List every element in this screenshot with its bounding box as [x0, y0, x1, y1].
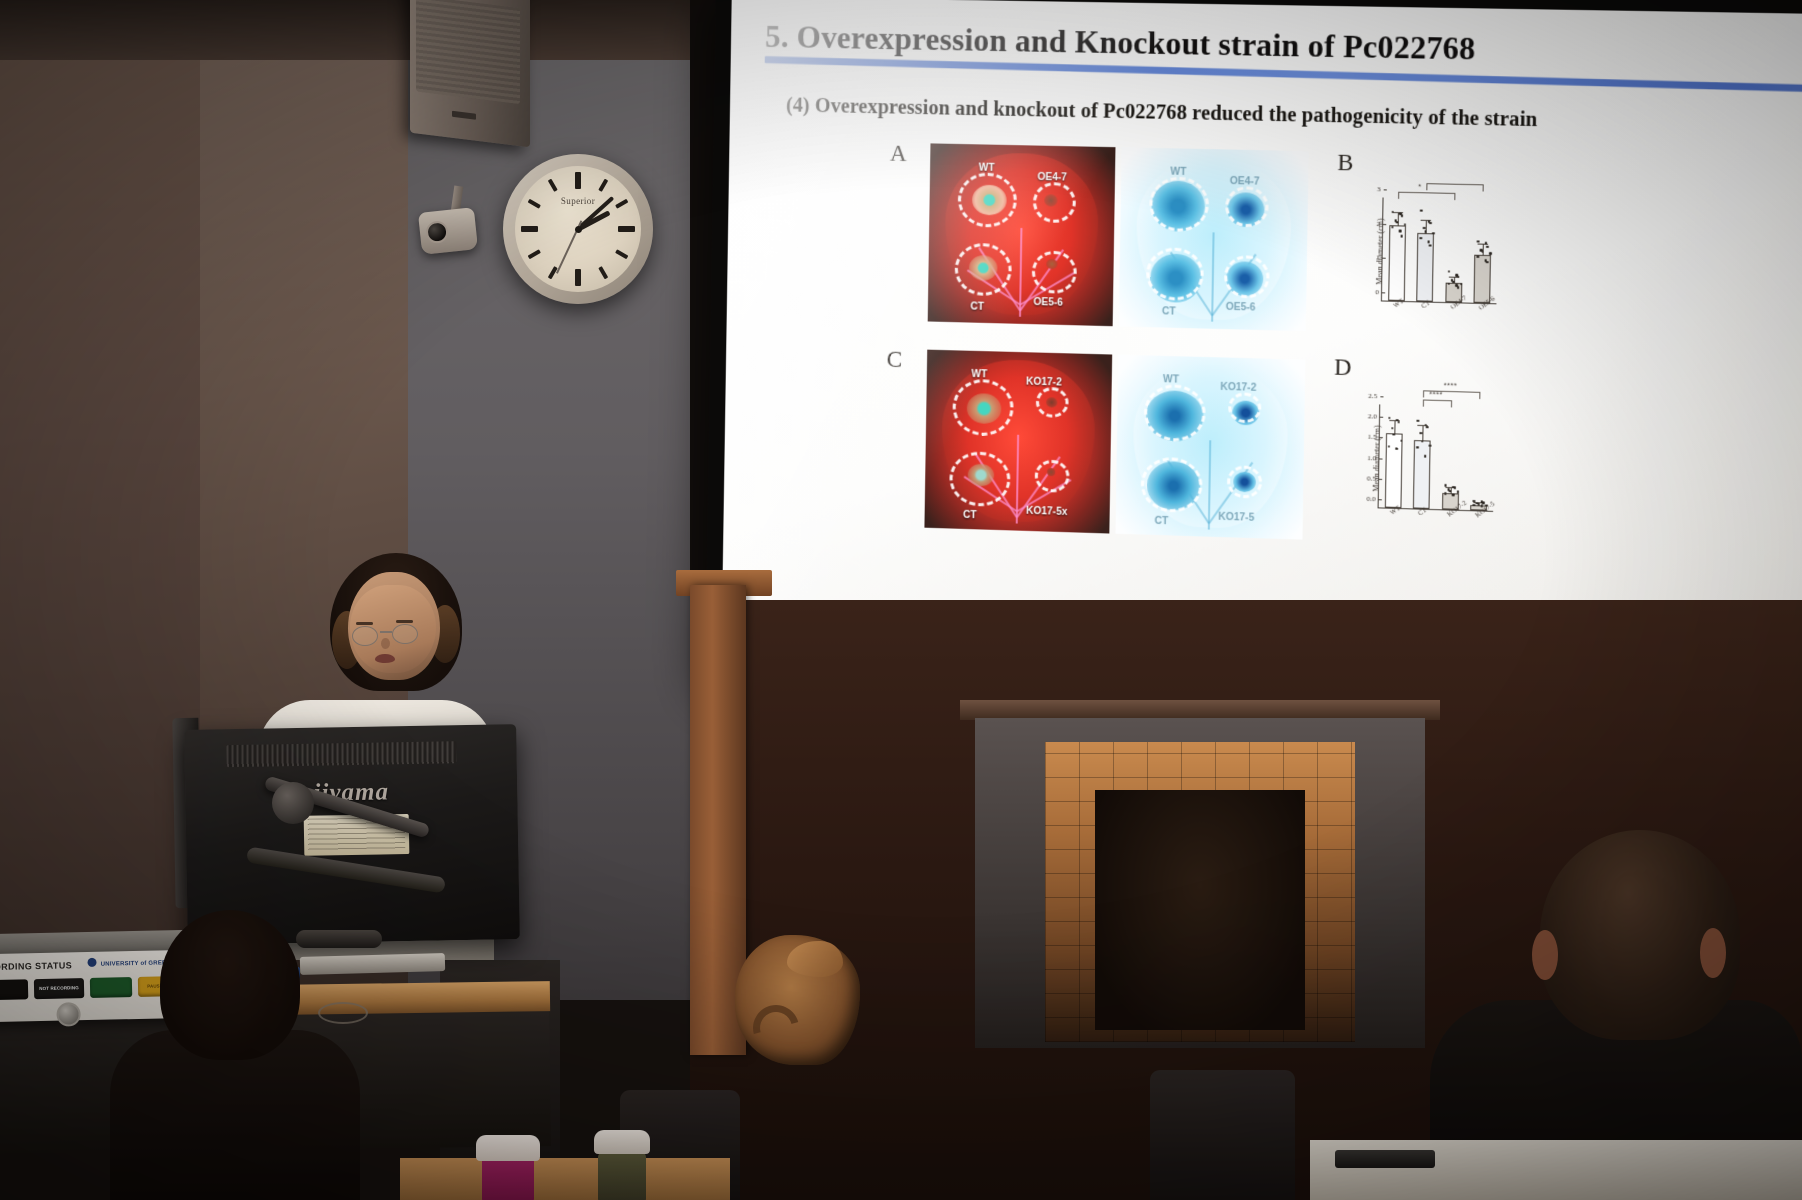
wall-clock: Superior — [503, 154, 653, 304]
speaker-grille-icon — [416, 0, 520, 104]
university-crest-icon — [88, 958, 97, 967]
bar-wt — [1385, 433, 1403, 508]
leaf-label: WT — [971, 369, 987, 381]
data-point — [1426, 426, 1429, 429]
panel-letter-d: D — [1334, 354, 1352, 381]
data-point — [1444, 484, 1447, 487]
data-point — [1427, 241, 1430, 243]
water-bottle-green-cap[interactable] — [594, 1130, 650, 1154]
y-axis-tick-label: 1.0 — [1367, 454, 1379, 463]
ceiling-speaker — [410, 0, 530, 147]
figure-area: A — [882, 135, 1802, 675]
monitor-arm-pivot[interactable] — [272, 782, 314, 824]
data-point — [1429, 244, 1432, 246]
monitor-arm-base — [296, 930, 382, 948]
presenter-glasses-bridge — [380, 631, 392, 633]
green-button[interactable] — [90, 977, 132, 998]
error-bar — [1483, 244, 1484, 254]
clock-face: Superior — [515, 166, 641, 292]
fireplace-hearth-shadow — [1095, 790, 1305, 1030]
presentation-slide: 5. Overexpression and Knockout strain of… — [722, 0, 1802, 686]
leaf-label: WT — [979, 163, 995, 174]
leaf-label: CT — [1154, 516, 1168, 528]
data-point — [1486, 261, 1489, 264]
audience-right-ear-left — [1532, 930, 1558, 980]
data-point — [1420, 210, 1423, 212]
data-point — [1457, 286, 1460, 289]
leaf-label: WT — [1163, 374, 1179, 386]
presenter-nose — [381, 638, 390, 649]
data-point — [1424, 455, 1427, 458]
significance-bracket — [1423, 390, 1480, 399]
lecture-theatre-scene: Superior 5. Overexpression and Knockout … — [0, 0, 1802, 1200]
data-point — [1460, 283, 1463, 286]
carved-wood-ornament — [735, 935, 860, 1065]
significance-bracket — [1427, 183, 1484, 191]
data-point — [1396, 221, 1399, 223]
monitor-vent-grille — [226, 741, 456, 767]
y-axis-tick-label: 1 — [1376, 254, 1383, 262]
leaf-label: CT — [970, 301, 984, 312]
error-bar — [1394, 421, 1395, 433]
data-point — [1477, 256, 1480, 259]
figure-row-top: A — [887, 135, 1802, 355]
clock-tick — [528, 249, 541, 259]
bar-wt — [1388, 225, 1406, 301]
y-axis-tick-label: 0.0 — [1366, 495, 1378, 504]
panel-d-plot-area: 0.00.51.01.52.02.5WTCTKO17-2KO17-5******… — [1378, 404, 1495, 511]
panel-c-red-leaf-photo: WT KO17-2 CT KO17-5x — [924, 350, 1112, 534]
panel-b-bar-chart: Mean diameter (cm) 0123WTCTOE4-7OE5-6* — [1349, 174, 1502, 331]
data-point — [1399, 230, 1402, 232]
audience-table-right — [1310, 1140, 1802, 1200]
presenter-glasses-left — [352, 626, 378, 646]
clock-tick — [548, 179, 558, 192]
panel-a-blue-leaf-photo: WT OE4-7 CT OE5-6 — [1119, 147, 1309, 331]
data-point — [1429, 222, 1432, 224]
panel-a-red-leaf-photo: WT OE4-7 CT OE5-6 — [928, 143, 1116, 326]
carved-creature-head — [787, 941, 843, 977]
leaf-label: CT — [963, 510, 977, 522]
recording-status-title: RECORDING STATUS — [0, 960, 72, 972]
data-point — [1397, 421, 1400, 424]
screen-surface: 5. Overexpression and Knockout strain of… — [722, 0, 1802, 686]
data-point — [1424, 230, 1427, 232]
leaf-label: OE4-7 — [1230, 176, 1260, 188]
leaf-label: CT — [1162, 306, 1176, 317]
panel-d-bar-chart: Mean diameter (cm) 0.00.51.01.52.02.5WTC… — [1346, 381, 1499, 538]
slide-subtitle: (4) Overexpression and knockout of Pc022… — [786, 94, 1802, 137]
data-point — [1404, 223, 1407, 225]
panel-letter-a: A — [890, 141, 907, 167]
keyboard[interactable] — [300, 953, 445, 975]
panel-b-plot-area: 0123WTCTOE4-7OE5-6* — [1381, 197, 1498, 304]
leaf-label: WT — [1170, 167, 1186, 178]
presenter-brow-left — [356, 622, 373, 625]
clock-center-pin — [575, 226, 582, 233]
data-point — [1477, 240, 1480, 243]
leaf-label: OE4-7 — [1037, 172, 1067, 184]
leaf-label: OE5-6 — [1033, 297, 1063, 309]
leaf-label: OE5-6 — [1226, 302, 1256, 314]
significance-label: **** — [1444, 383, 1458, 391]
data-point — [1423, 227, 1426, 229]
y-axis-tick-label: 2 — [1376, 219, 1383, 227]
bar-ct — [1416, 233, 1434, 302]
significance-bracket — [1398, 192, 1455, 200]
data-point — [1457, 491, 1460, 494]
clock-tick — [575, 269, 581, 286]
chair-right — [1150, 1070, 1295, 1200]
error-bar — [1423, 426, 1424, 440]
leaf-label: KO17-5x — [1026, 506, 1067, 518]
audience-left-head — [160, 910, 300, 1060]
ceiling-shadow — [0, 0, 760, 60]
clock-tick — [618, 226, 635, 232]
data-point — [1449, 490, 1452, 493]
panel-c-blue-leaf-photo: WT KO17-2 CT KO17-5 — [1115, 355, 1305, 540]
data-point — [1448, 270, 1451, 273]
presenter-mouth — [375, 654, 395, 663]
significance-label: * — [1418, 184, 1421, 191]
data-point — [1489, 252, 1492, 255]
data-point — [1485, 242, 1488, 245]
audience-left-glasses — [318, 1002, 368, 1024]
clock-tick — [575, 172, 581, 189]
y-axis-tick-label: 0.5 — [1367, 474, 1379, 483]
data-point — [1454, 487, 1457, 490]
presenter-glasses-right — [392, 624, 418, 644]
y-axis-tick-label: 2.0 — [1368, 412, 1380, 420]
data-point — [1417, 420, 1420, 423]
not-recording-button[interactable]: NOT RECORDING — [34, 978, 84, 999]
data-point — [1473, 504, 1476, 507]
leaf-label: KO17-2 — [1220, 382, 1256, 394]
y-axis-tick-label: 0 — [1375, 288, 1382, 296]
y-axis-tick-label: 1.5 — [1367, 433, 1379, 442]
bar-ct — [1413, 440, 1431, 509]
clock-tick — [521, 226, 538, 232]
data-point — [1392, 433, 1395, 436]
y-axis-tick-label: 3 — [1377, 185, 1384, 193]
camera-lens-icon — [425, 220, 449, 244]
presenter-brow-right — [396, 620, 413, 623]
data-point — [1401, 214, 1404, 216]
panel-letter-b: B — [1337, 150, 1353, 177]
speaker-badge — [452, 111, 476, 120]
error-bar — [1397, 213, 1398, 225]
leaf-label: KO17-2 — [1026, 376, 1062, 388]
clock-tick — [615, 249, 628, 259]
status-display — [0, 979, 28, 1000]
audience-right-ear-right — [1700, 928, 1726, 978]
panel-letter-c: C — [886, 347, 902, 374]
foreground-table — [400, 1158, 730, 1200]
data-point — [1388, 417, 1391, 420]
data-point — [1420, 432, 1423, 435]
figure-row-bottom: C — [884, 341, 1802, 567]
bar-oe5-6 — [1474, 255, 1491, 304]
data-point — [1444, 493, 1447, 496]
data-point — [1452, 494, 1455, 497]
phone-on-table[interactable] — [1335, 1150, 1435, 1168]
clock-tick — [598, 266, 608, 279]
leaf-label: KO17-5 — [1218, 512, 1254, 524]
water-bottle-green[interactable] — [598, 1152, 646, 1200]
fireplace-mantel — [960, 700, 1440, 720]
y-axis-tick-label: 2.5 — [1368, 392, 1380, 400]
clock-tick — [598, 179, 608, 192]
data-point — [1482, 501, 1485, 504]
significance-bracket — [1423, 400, 1452, 408]
data-point — [1400, 235, 1403, 237]
data-point — [1486, 246, 1489, 249]
security-camera-icon — [418, 207, 478, 255]
water-bottle-pink-cap[interactable] — [476, 1135, 540, 1161]
